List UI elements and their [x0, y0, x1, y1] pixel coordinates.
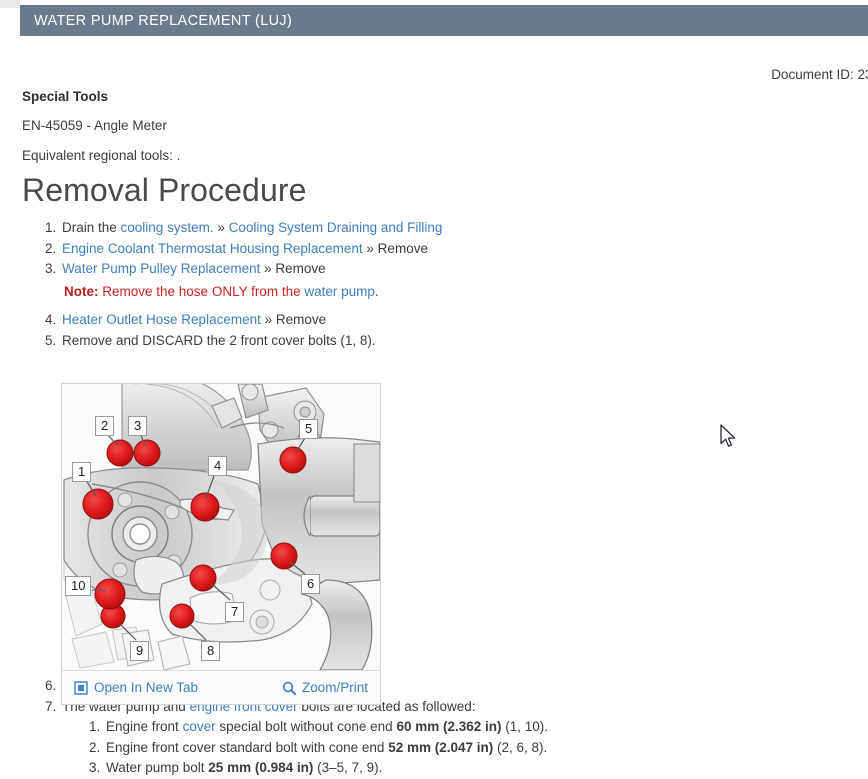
inline-link[interactable]: cooling system. — [121, 220, 214, 235]
step-text: » Remove — [260, 261, 325, 276]
callout-5: 5 — [299, 419, 318, 439]
step-text: special bolt without cone end — [216, 719, 397, 734]
step-text: » — [214, 220, 229, 235]
inline-link[interactable]: Engine Coolant Thermostat Housing Replac… — [62, 241, 363, 256]
figure-footer: Open In New Tab Zoom/Print — [62, 670, 380, 704]
note-callout: Note: Remove the hose ONLY from the wate… — [62, 282, 548, 303]
note-text: Remove the hose ONLY from the — [99, 284, 305, 299]
callout-7: 7 — [225, 602, 244, 622]
inline-link[interactable]: Cooling System Draining and Filling — [229, 220, 443, 235]
procedure-step: Heater Outlet Hose Replacement » Remove — [60, 310, 548, 331]
open-in-new-tab-button[interactable]: Open In New Tab — [74, 680, 198, 695]
equivalent-regional-tools: Equivalent regional tools: . — [22, 148, 180, 163]
figure-container: 12345678910 Open In New Tab — [61, 383, 381, 705]
zoom-print-button[interactable]: Zoom/Print — [282, 680, 368, 695]
note-text-end: . — [375, 284, 379, 299]
open-in-new-tab-icon — [74, 681, 88, 695]
callout-2: 2 — [95, 416, 114, 436]
procedure-step-body: Remove and DISCARD the 2 front cover bol… — [62, 333, 376, 348]
callout-3: 3 — [128, 416, 147, 436]
step-text: Engine front cover standard bolt with co… — [106, 740, 388, 755]
callout-4: 4 — [208, 456, 227, 476]
callout-1: 1 — [72, 462, 91, 482]
step-text: (2, 6, 8). — [493, 740, 547, 755]
procedure-step-body: Heater Outlet Hose Replacement » Remove — [62, 312, 326, 327]
bold-measurement: 52 mm (2.047 in) — [388, 740, 493, 755]
note-link[interactable]: water pump — [304, 284, 375, 299]
bolt-spec-item: Engine front cover standard bolt with co… — [104, 738, 548, 759]
engine-front-cover-diagram[interactable]: 12345678910 — [62, 384, 380, 670]
page-header-bar: WATER PUMP REPLACEMENT (LUJ) — [20, 5, 868, 36]
procedure-step: Engine Coolant Thermostat Housing Replac… — [60, 239, 548, 260]
open-in-new-tab-label: Open In New Tab — [94, 680, 198, 695]
callout-9: 9 — [130, 641, 149, 661]
document-id-label: Document ID: 237 — [771, 67, 868, 82]
bolt-spec-item: Engine front cover special bolt without … — [104, 717, 548, 738]
step-text: (3–5, 7, 9). — [313, 760, 382, 775]
note-label: Note: — [64, 284, 99, 299]
procedure-step: Drain the cooling system. » Cooling Syst… — [60, 218, 548, 239]
step-text: » Remove — [261, 312, 326, 327]
step-text: Drain the — [62, 220, 121, 235]
step-text: Water pump bolt — [106, 760, 208, 775]
procedure-step: The water pump and engine front cover bo… — [60, 697, 548, 779]
inline-link[interactable]: Heater Outlet Hose Replacement — [62, 312, 261, 327]
page-title: WATER PUMP REPLACEMENT (LUJ) — [20, 13, 292, 29]
zoom-print-label: Zoom/Print — [302, 680, 368, 695]
removal-procedure-heading: Removal Procedure — [22, 172, 307, 209]
top-left-strip — [0, 0, 20, 8]
step-text: Engine front — [106, 719, 183, 734]
callout-8: 8 — [201, 641, 220, 661]
procedure-step-body: Water Pump Pulley Replacement » Remove — [62, 261, 326, 276]
bold-measurement: 60 mm (2.362 in) — [396, 719, 501, 734]
procedure-step: Water Pump Pulley Replacement » RemoveNo… — [60, 259, 548, 302]
procedure-step-body: Drain the cooling system. » Cooling Syst… — [62, 220, 442, 235]
callout-10: 10 — [65, 576, 91, 596]
bolt-spec-substeps: Engine front cover special bolt without … — [62, 717, 548, 779]
step-text: (1, 10). — [502, 719, 549, 734]
step-text: Remove and DISCARD the 2 front cover bol… — [62, 333, 376, 348]
inline-link[interactable]: Water Pump Pulley Replacement — [62, 261, 260, 276]
document-content: Document ID: 237 Special Tools EN-45059 … — [0, 36, 868, 772]
bold-measurement: 25 mm (0.984 in) — [208, 760, 313, 775]
bolt-spec-item: Water pump bolt 25 mm (0.984 in) (3–5, 7… — [104, 758, 548, 779]
inline-link[interactable]: cover — [183, 719, 216, 734]
procedure-step-body: Engine Coolant Thermostat Housing Replac… — [62, 241, 428, 256]
callout-6: 6 — [301, 574, 320, 594]
special-tools-heading: Special Tools — [22, 89, 108, 104]
step-text: » Remove — [363, 241, 428, 256]
magnifier-icon — [282, 681, 296, 695]
special-tool-item: EN-45059 - Angle Meter — [22, 118, 167, 133]
